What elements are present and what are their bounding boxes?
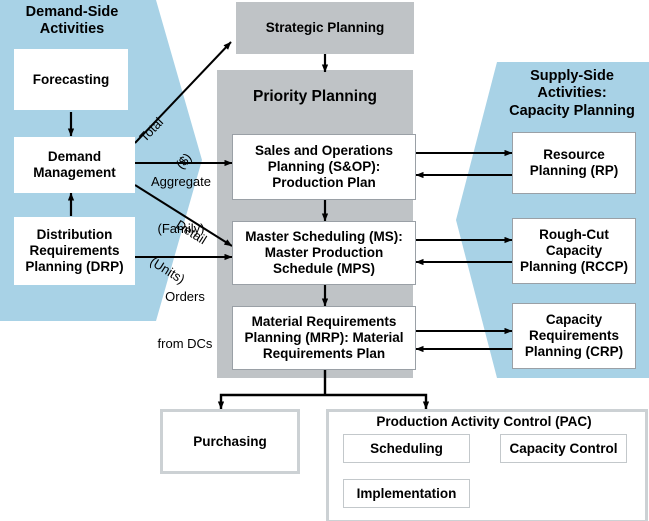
node-capacity-control[interactable]: Capacity Control (500, 434, 627, 463)
diagram-canvas: Demand-Side Activities Supply-Side Activ… (0, 0, 649, 521)
pac-container-title: Production Activity Control (PAC) (326, 414, 642, 430)
node-sop-label-line2: Planning (S&OP): (255, 159, 393, 175)
supply-side-band-title-line2: Activities: (498, 85, 646, 102)
node-implementation[interactable]: Implementation (343, 479, 470, 508)
node-capacity-requirements-planning[interactable]: Capacity Requirements Planning (CRP) (512, 303, 636, 369)
edge-label-detail-units-line1: Detail (161, 210, 221, 256)
supply-side-band-title-line1: Supply-Side (498, 68, 646, 85)
node-strategic-planning-label: Strategic Planning (266, 20, 385, 36)
node-rccp-label-line3: Planning (RCCP) (520, 259, 628, 275)
demand-side-band-title: Demand-Side Activities (2, 4, 142, 39)
node-distribution-requirements-planning[interactable]: Distribution Requirements Planning (DRP) (14, 217, 135, 285)
node-rccp-label-line2: Capacity (520, 243, 628, 259)
node-master-scheduling-label-line2: Master Production (245, 245, 403, 261)
arrow-mrp-to-purchasing (221, 395, 325, 409)
node-scheduling[interactable]: Scheduling (343, 434, 470, 463)
node-purchasing-label: Purchasing (193, 434, 267, 450)
node-demand-management-label-line1: Demand (33, 149, 116, 165)
node-crp-label-line2: Requirements (525, 328, 623, 344)
priority-planning-panel-title-label: Priority Planning (253, 88, 377, 105)
supply-side-band-title-line3: Capacity Planning (498, 103, 646, 120)
node-material-requirements-planning[interactable]: Material Requirements Planning (MRP): Ma… (232, 306, 416, 370)
node-demand-management[interactable]: Demand Management (14, 137, 135, 193)
node-implementation-label: Implementation (357, 486, 457, 502)
node-crp-label-line1: Capacity (525, 312, 623, 328)
node-drp-label-line3: Planning (DRP) (25, 259, 123, 275)
node-purchasing[interactable]: Purchasing (160, 409, 300, 474)
node-rough-cut-capacity-planning[interactable]: Rough-Cut Capacity Planning (RCCP) (512, 218, 636, 284)
node-mrp-label-line1: Material Requirements (244, 314, 403, 330)
node-drp-label-line1: Distribution (25, 227, 123, 243)
node-rccp-label-line1: Rough-Cut (520, 227, 628, 243)
node-sop-label-line3: Production Plan (255, 175, 393, 191)
demand-side-band-title-line1: Demand-Side (2, 4, 142, 21)
node-master-scheduling-label-line3: Schedule (MPS) (245, 261, 403, 277)
priority-planning-panel-title: Priority Planning (217, 88, 413, 107)
node-master-scheduling[interactable]: Master Scheduling (MS): Master Productio… (232, 221, 416, 285)
node-resource-planning-label-line1: Resource (530, 147, 619, 163)
node-crp-label-line3: Planning (CRP) (525, 344, 623, 360)
node-mrp-label-line2: Planning (MRP): Material (244, 330, 403, 346)
node-master-scheduling-label-line1: Master Scheduling (MS): (245, 229, 403, 245)
edge-label-orders-from-dcs-line1: Orders (140, 289, 230, 305)
supply-side-band-title: Supply-Side Activities: Capacity Plannin… (498, 68, 646, 120)
node-resource-planning[interactable]: Resource Planning (RP) (512, 132, 636, 194)
node-resource-planning-label-line2: Planning (RP) (530, 163, 619, 179)
edge-label-orders-from-dcs-line2: from DCs (140, 336, 230, 352)
node-forecasting[interactable]: Forecasting (14, 49, 128, 110)
node-capacity-control-label: Capacity Control (509, 441, 617, 457)
edge-label-aggregate-family-line1: Aggregate (138, 174, 224, 190)
node-forecasting-label: Forecasting (33, 72, 110, 88)
node-sop-label-line1: Sales and Operations (255, 143, 393, 159)
arrow-mrp-to-pac (325, 395, 426, 409)
node-mrp-label-line3: Requirements Plan (244, 346, 403, 362)
node-strategic-planning[interactable]: Strategic Planning (236, 2, 414, 54)
demand-side-band-title-line2: Activities (2, 21, 142, 38)
node-sales-and-operations-planning[interactable]: Sales and Operations Planning (S&OP): Pr… (232, 134, 416, 200)
edge-label-orders-from-dcs: Orders from DCs (140, 258, 230, 383)
pac-container-title-label: Production Activity Control (PAC) (376, 414, 591, 429)
node-demand-management-label-line2: Management (33, 165, 116, 181)
node-scheduling-label: Scheduling (370, 441, 443, 457)
node-drp-label-line2: Requirements (25, 243, 123, 259)
